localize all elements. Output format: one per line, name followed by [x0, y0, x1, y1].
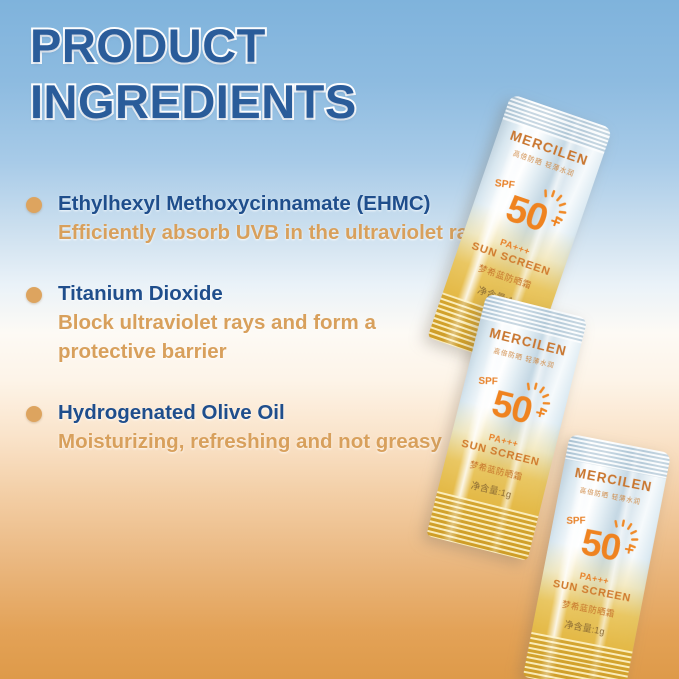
bullet-dot-icon [26, 197, 42, 213]
bullet-dot-icon [26, 287, 42, 303]
product-ingredients-poster: PRODUCT INGREDIENTS Ethylhexyl Methoxyci… [0, 0, 679, 679]
page-title-line-1: PRODUCT [30, 18, 510, 74]
sachet-label: MERCILEN 高倍防晒 轻薄水润 SPF 50 [446, 123, 603, 320]
page-title-line-2: INGREDIENTS [30, 74, 510, 130]
sachet-label: MERCILEN 高倍防晒 轻薄水润 SPF 50 [533, 463, 665, 644]
page-title: PRODUCT INGREDIENTS [30, 18, 510, 130]
bullet-dot-icon [26, 406, 42, 422]
